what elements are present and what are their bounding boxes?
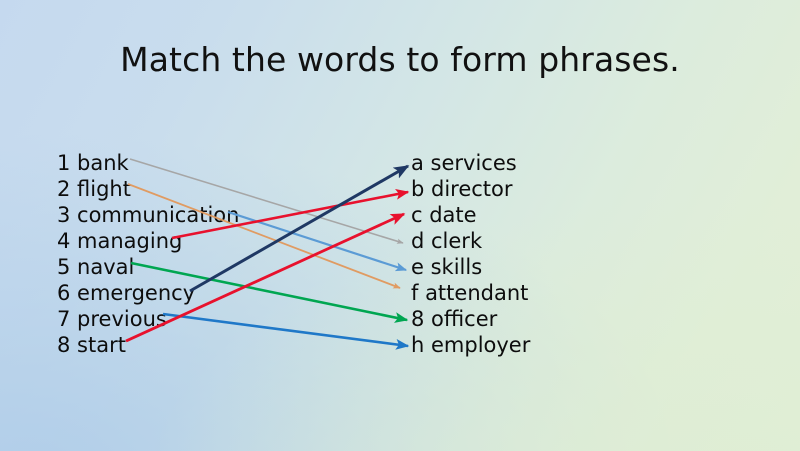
right-word-item[interactable]: c date bbox=[411, 202, 530, 228]
right-word-item[interactable]: h employer bbox=[411, 332, 530, 358]
left-word-item[interactable]: 7 previous bbox=[57, 306, 239, 332]
slide-canvas: Match the words to form phrases. 1 bank2… bbox=[0, 0, 800, 451]
right-word-column: a servicesb directorc dated clerke skill… bbox=[411, 150, 530, 358]
right-word-item[interactable]: e skills bbox=[411, 254, 530, 280]
connector-communication-to-skills bbox=[228, 212, 406, 270]
right-word-item[interactable]: b director bbox=[411, 176, 530, 202]
left-word-item[interactable]: 1 bank bbox=[57, 150, 239, 176]
left-word-item[interactable]: 8 start bbox=[57, 332, 239, 358]
left-word-item[interactable]: 4 managing bbox=[57, 228, 239, 254]
left-word-item[interactable]: 2 flight bbox=[57, 176, 239, 202]
right-word-item[interactable]: f attendant bbox=[411, 280, 530, 306]
page-title: Match the words to form phrases. bbox=[0, 40, 800, 79]
right-word-item[interactable]: 8 officer bbox=[411, 306, 530, 332]
left-word-item[interactable]: 5 naval bbox=[57, 254, 239, 280]
right-word-item[interactable]: d clerk bbox=[411, 228, 530, 254]
left-word-item[interactable]: 6 emergency bbox=[57, 280, 239, 306]
left-word-column: 1 bank2 flight3 communication4 managing5… bbox=[57, 150, 239, 358]
right-word-item[interactable]: a services bbox=[411, 150, 530, 176]
left-word-item[interactable]: 3 communication bbox=[57, 202, 239, 228]
